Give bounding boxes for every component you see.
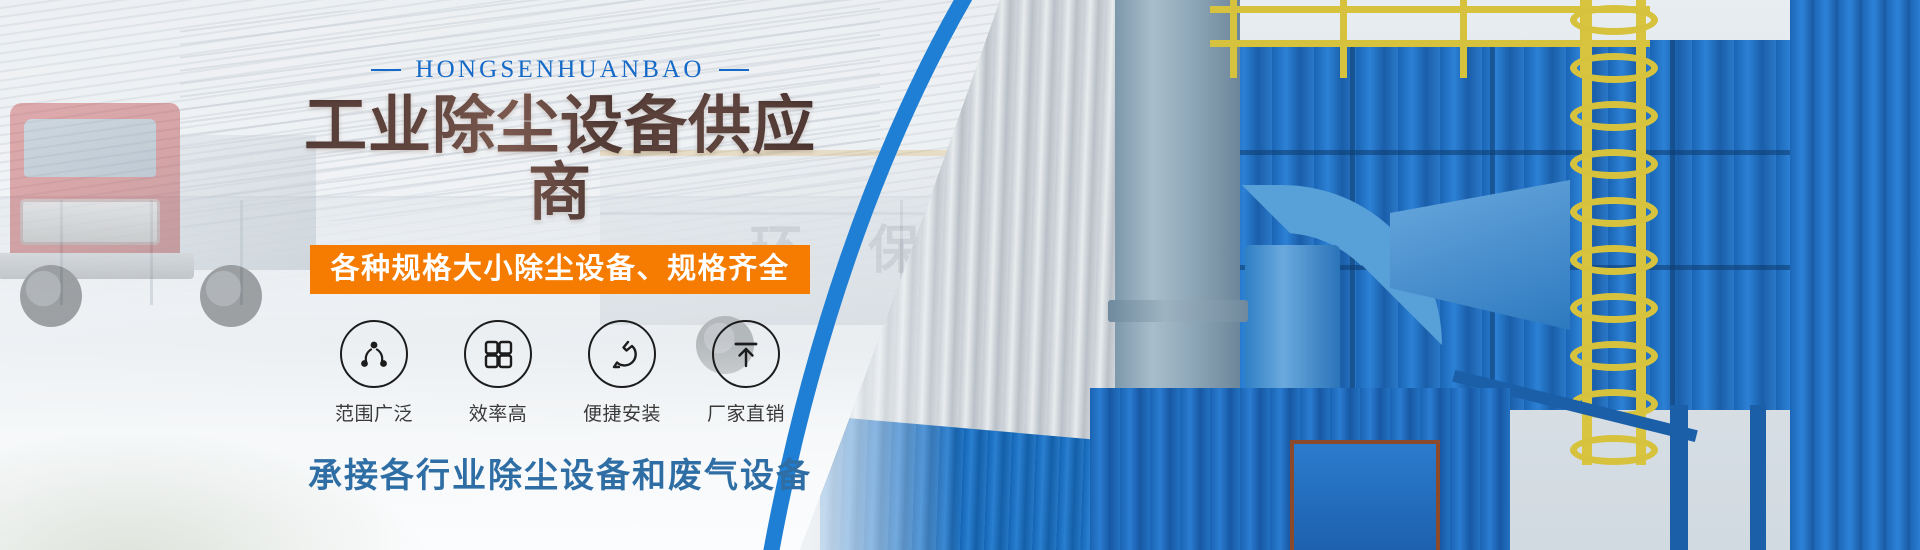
truck-body (166, 135, 316, 270)
feature-item-coverage[interactable]: 范围广泛 (328, 320, 420, 426)
feature-item-factory-direct[interactable]: 厂家直销 (700, 320, 792, 426)
feature-label: 厂家直销 (707, 399, 785, 426)
feature-list: 范围广泛 效率高 (300, 320, 820, 426)
share-network-icon (340, 320, 408, 388)
feature-label: 效率高 (469, 399, 528, 426)
banner-content: HONGSENHUANBAO 工业除尘设备供应商 各种规格大小除尘设备、规格齐全… (300, 56, 820, 497)
truck-grille (20, 199, 160, 245)
feature-label: 便捷安装 (583, 399, 661, 426)
background-red-truck (0, 95, 320, 360)
feature-item-efficiency[interactable]: 效率高 (452, 320, 544, 426)
truck-wheel (20, 265, 82, 327)
truck-windshield (24, 119, 156, 177)
ladder-hoop (1570, 53, 1658, 83)
feature-label: 范围广泛 (335, 399, 413, 426)
ladder-hoop (1570, 293, 1658, 323)
ladder-hoop (1570, 435, 1658, 465)
ladder-hoop (1570, 341, 1658, 371)
feature-item-installation[interactable]: 便捷安装 (576, 320, 668, 426)
dash-right-icon (719, 69, 749, 71)
support-leg (1750, 405, 1766, 550)
railing-post (1340, 0, 1347, 78)
grid-squares-icon (464, 320, 532, 388)
page-title: 工业除尘设备供应商 (300, 93, 820, 227)
dash-left-icon (371, 69, 401, 71)
highlight-bar: 各种规格大小除尘设备、规格齐全 (310, 245, 809, 294)
housing-grid-line (1670, 40, 1675, 410)
blue-side-column (1790, 0, 1920, 550)
brand-pinyin: HONGSENHUANBAO (415, 56, 704, 84)
ladder-hoop (1570, 5, 1658, 35)
brand-eyebrow: HONGSENHUANBAO (300, 56, 820, 84)
arrow-up-to-bar-icon (712, 320, 780, 388)
ladder-hoop (1570, 245, 1658, 275)
hero-banner: 环 保 (0, 0, 1920, 550)
truck-wheel (200, 265, 262, 327)
wrench-icon (588, 320, 656, 388)
ladder-hoop (1570, 101, 1658, 131)
yellow-ladder-cage (1570, 0, 1660, 465)
railing-post (1460, 0, 1467, 78)
ladder-hoop (1570, 149, 1658, 179)
railing-post (1230, 0, 1237, 78)
banner-tagline: 承接各行业除尘设备和废气设备 (300, 448, 820, 497)
ladder-hoop (1570, 197, 1658, 227)
equipment-access-door (1290, 440, 1440, 550)
stack-flange (1108, 300, 1248, 322)
